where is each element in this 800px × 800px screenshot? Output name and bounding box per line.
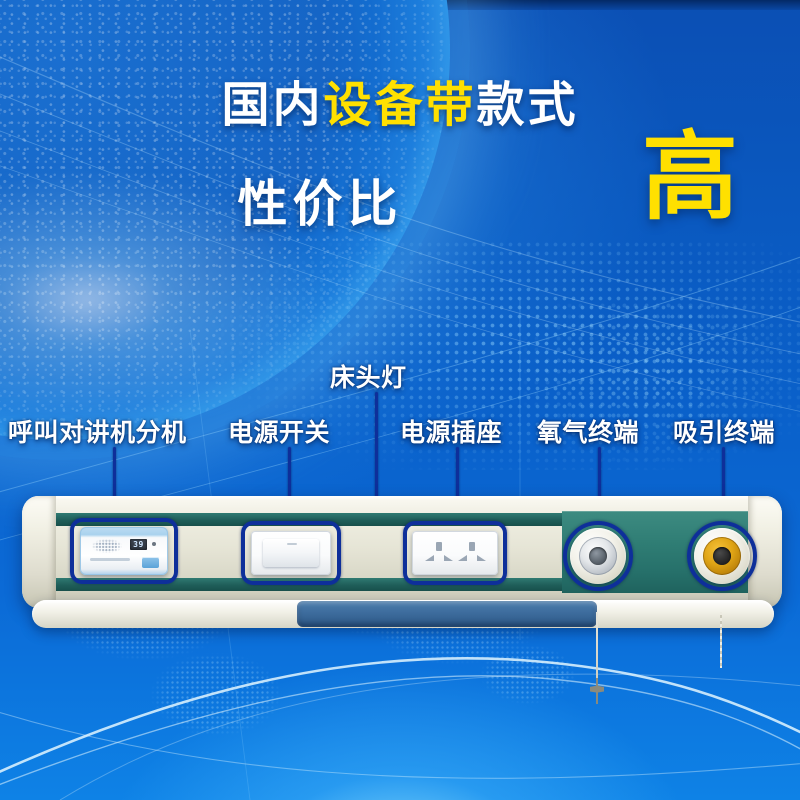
oxygen-hanging-cord xyxy=(596,612,598,682)
highlight-box-socket xyxy=(403,521,507,585)
headline-line-1: 国内设备带款式 xyxy=(0,82,800,130)
callout-label-bed-lamp: 床头灯 xyxy=(330,358,407,394)
product-promo-image: 国内设备带款式 性价比 高 呼叫对讲机分机 电源开关 床头灯 电源插座 氧气终端… xyxy=(0,0,800,800)
highlight-circle-oxygen xyxy=(563,521,633,591)
highlight-circle-suction xyxy=(687,521,757,591)
callout-label-socket: 电源插座 xyxy=(400,413,502,449)
headline-line-2-row: 性价比 高 xyxy=(0,158,800,244)
headline-block: 国内设备带款式 性价比 高 xyxy=(0,82,800,244)
headline-text-accent: 设备带 xyxy=(323,79,476,132)
headline-text-prefix: 国内 xyxy=(221,79,323,132)
callout-label-intercom: 呼叫对讲机分机 xyxy=(8,413,187,449)
halftone-dot-pattern-secondary xyxy=(520,300,800,480)
suction-hanging-cord xyxy=(720,612,722,668)
highlight-box-intercom xyxy=(70,518,178,584)
callout-label-suction: 吸引终端 xyxy=(673,413,775,449)
panel-endcap-left xyxy=(22,496,56,608)
headline-emphasis-char: 高 xyxy=(642,130,738,226)
callout-label-switch: 电源开关 xyxy=(228,413,330,449)
highlight-box-switch xyxy=(241,521,341,585)
headline-text-suffix: 款式 xyxy=(477,79,579,132)
callout-label-oxygen: 氧气终端 xyxy=(537,413,639,449)
panel-rail-slider[interactable] xyxy=(297,601,597,627)
